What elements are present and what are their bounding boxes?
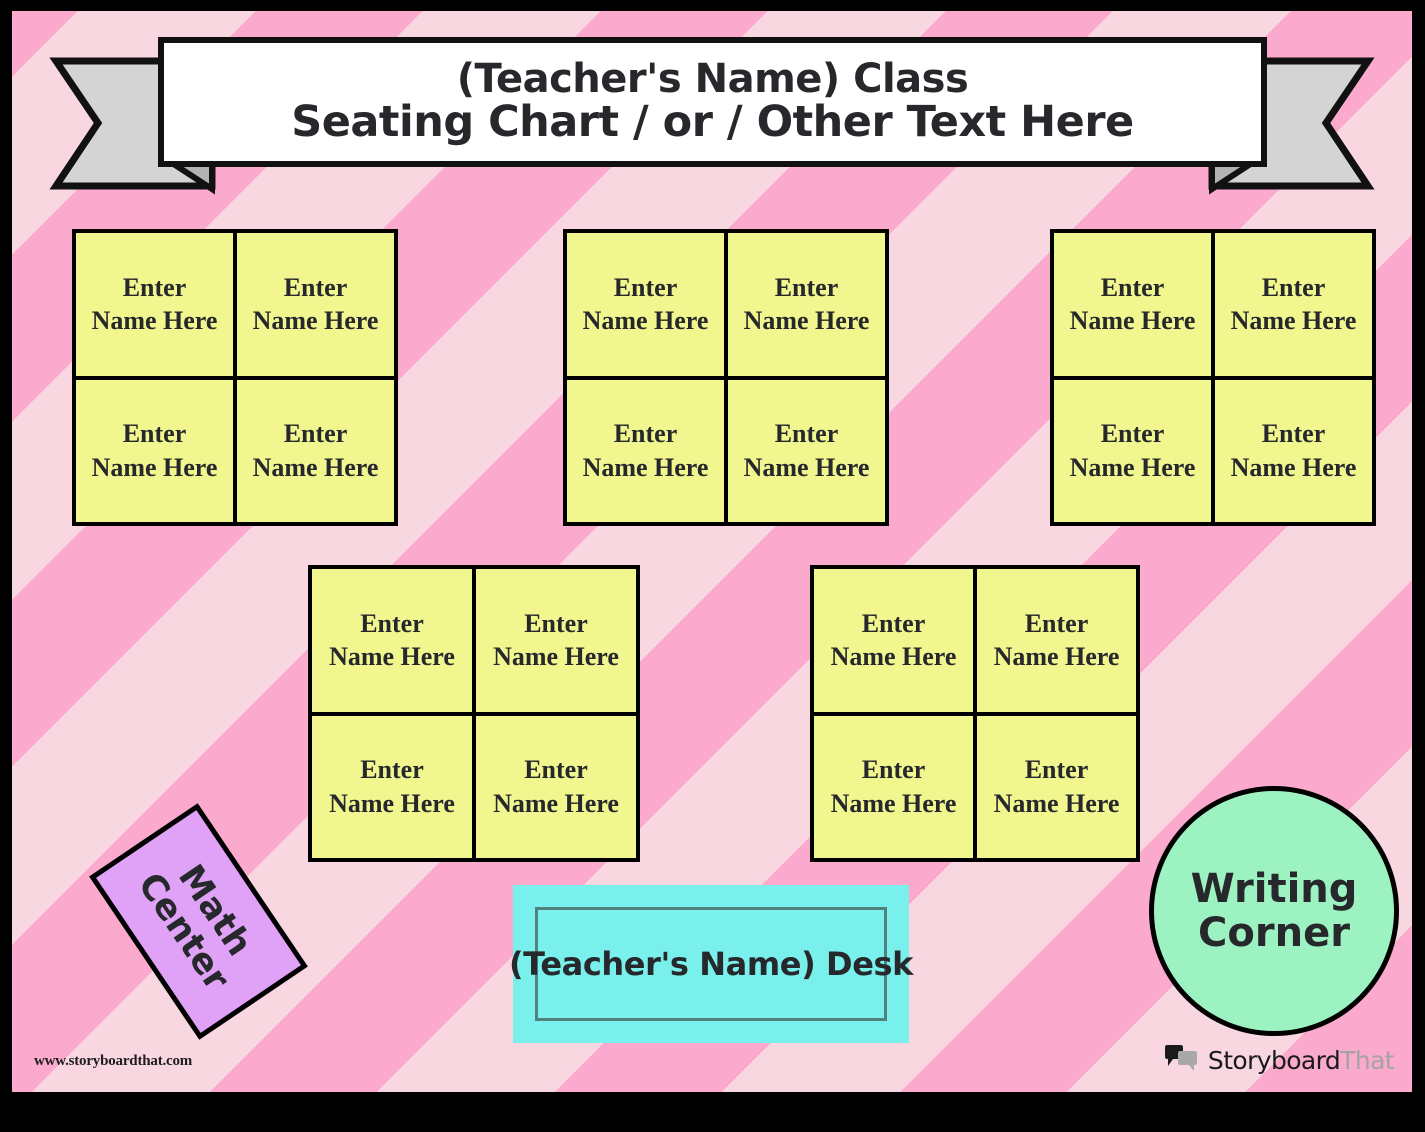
brand-wordmark-grey: That (1340, 1046, 1394, 1075)
desk-label-line-1: Enter (284, 417, 348, 450)
desk-group-2[interactable]: Enter Name Here Enter Name Here Enter Na… (563, 229, 889, 526)
storyboardthat-logo[interactable]: StoryboardThat (1164, 1045, 1394, 1076)
desk-label-line-2: Name Here (493, 640, 619, 673)
desk-seat[interactable]: Enter Name Here (1215, 233, 1372, 376)
desk-label-line-1: Enter (1262, 271, 1326, 304)
desk-seat[interactable]: Enter Name Here (76, 233, 233, 376)
desk-label-line-2: Name Here (329, 787, 455, 820)
desk-label-line-2: Name Here (329, 640, 455, 673)
desk-label-line-2: Name Here (1070, 451, 1196, 484)
desk-seat[interactable]: Enter Name Here (728, 233, 885, 376)
desk-seat[interactable]: Enter Name Here (1215, 380, 1372, 523)
desk-label-line-2: Name Here (744, 304, 870, 337)
desk-seat[interactable]: Enter Name Here (476, 569, 636, 712)
desk-seat[interactable]: Enter Name Here (814, 716, 973, 859)
desk-seat[interactable]: Enter Name Here (728, 380, 885, 523)
writing-corner-label-line-2: Corner (1198, 911, 1350, 955)
desk-seat[interactable]: Enter Name Here (237, 380, 394, 523)
desk-seat[interactable]: Enter Name Here (312, 569, 472, 712)
desk-seat[interactable]: Enter Name Here (476, 716, 636, 859)
desk-label-line-2: Name Here (831, 640, 957, 673)
desk-label-line-1: Enter (1262, 417, 1326, 450)
banner-fold-right (1212, 163, 1252, 189)
desk-label-line-1: Enter (775, 417, 839, 450)
desk-label-line-2: Name Here (994, 640, 1120, 673)
footer-website-url[interactable]: www.storyboardthat.com (34, 1053, 192, 1070)
brand-wordmark-dark: Storyboard (1208, 1046, 1340, 1075)
banner-title-line-1: (Teacher's Name) Class (457, 58, 969, 100)
desk-group-1[interactable]: Enter Name Here Enter Name Here Enter Na… (72, 229, 398, 526)
teacher-desk[interactable]: (Teacher's Name) Desk (513, 885, 909, 1043)
speech-bubbles-icon (1164, 1045, 1200, 1076)
desk-seat[interactable]: Enter Name Here (237, 233, 394, 376)
desk-seat[interactable]: Enter Name Here (76, 380, 233, 523)
writing-corner-zone[interactable]: Writing Corner (1149, 786, 1399, 1036)
seating-chart-poster: (Teacher's Name) Class Seating Chart / o… (0, 0, 1425, 1132)
desk-label-line-2: Name Here (744, 451, 870, 484)
desk-label-line-2: Name Here (253, 304, 379, 337)
desk-group-3[interactable]: Enter Name Here Enter Name Here Enter Na… (1050, 229, 1376, 526)
desk-seat[interactable]: Enter Name Here (567, 233, 724, 376)
desk-seat[interactable]: Enter Name Here (1054, 380, 1211, 523)
desk-label-line-1: Enter (862, 753, 926, 786)
desk-seat[interactable]: Enter Name Here (814, 569, 973, 712)
desk-label-line-1: Enter (524, 753, 588, 786)
banner-fold-left (172, 163, 212, 189)
desk-label-line-1: Enter (1101, 271, 1165, 304)
teacher-desk-label: (Teacher's Name) Desk (509, 945, 913, 983)
desk-label-line-1: Enter (360, 753, 424, 786)
banner-title-block[interactable]: (Teacher's Name) Class Seating Chart / o… (158, 39, 1267, 164)
desk-label-line-2: Name Here (92, 451, 218, 484)
desk-label-line-1: Enter (862, 607, 926, 640)
desk-seat[interactable]: Enter Name Here (1054, 233, 1211, 376)
desk-seat[interactable]: Enter Name Here (977, 569, 1136, 712)
desk-seat[interactable]: Enter Name Here (977, 716, 1136, 859)
brand-wordmark: StoryboardThat (1208, 1046, 1394, 1075)
desk-label-line-1: Enter (614, 271, 678, 304)
desk-label-line-2: Name Here (583, 304, 709, 337)
desk-group-5[interactable]: Enter Name Here Enter Name Here Enter Na… (810, 565, 1140, 862)
desk-label-line-2: Name Here (831, 787, 957, 820)
desk-label-line-1: Enter (524, 607, 588, 640)
desk-label-line-2: Name Here (583, 451, 709, 484)
desk-label-line-2: Name Here (253, 451, 379, 484)
desk-label-line-1: Enter (614, 417, 678, 450)
desk-label-line-1: Enter (1101, 417, 1165, 450)
desk-seat[interactable]: Enter Name Here (567, 380, 724, 523)
math-center-zone[interactable]: Math Center (89, 803, 308, 1040)
desk-seat[interactable]: Enter Name Here (312, 716, 472, 859)
title-banner: (Teacher's Name) Class Seating Chart / o… (12, 11, 1412, 211)
desk-label-line-2: Name Here (994, 787, 1120, 820)
desk-label-line-2: Name Here (493, 787, 619, 820)
desk-label-line-1: Enter (123, 417, 187, 450)
banner-title-line-2: Seating Chart / or / Other Text Here (291, 100, 1133, 146)
desk-label-line-1: Enter (1025, 607, 1089, 640)
desk-label-line-2: Name Here (1231, 304, 1357, 337)
desk-label-line-2: Name Here (1070, 304, 1196, 337)
writing-corner-label-line-1: Writing (1191, 867, 1358, 911)
desk-label-line-2: Name Here (1231, 451, 1357, 484)
desk-label-line-1: Enter (1025, 753, 1089, 786)
desk-label-line-1: Enter (123, 271, 187, 304)
desk-label-line-1: Enter (360, 607, 424, 640)
desk-label-line-1: Enter (775, 271, 839, 304)
desk-label-line-2: Name Here (92, 304, 218, 337)
desk-group-4[interactable]: Enter Name Here Enter Name Here Enter Na… (308, 565, 640, 862)
striped-background: (Teacher's Name) Class Seating Chart / o… (12, 11, 1412, 1092)
desk-label-line-1: Enter (284, 271, 348, 304)
